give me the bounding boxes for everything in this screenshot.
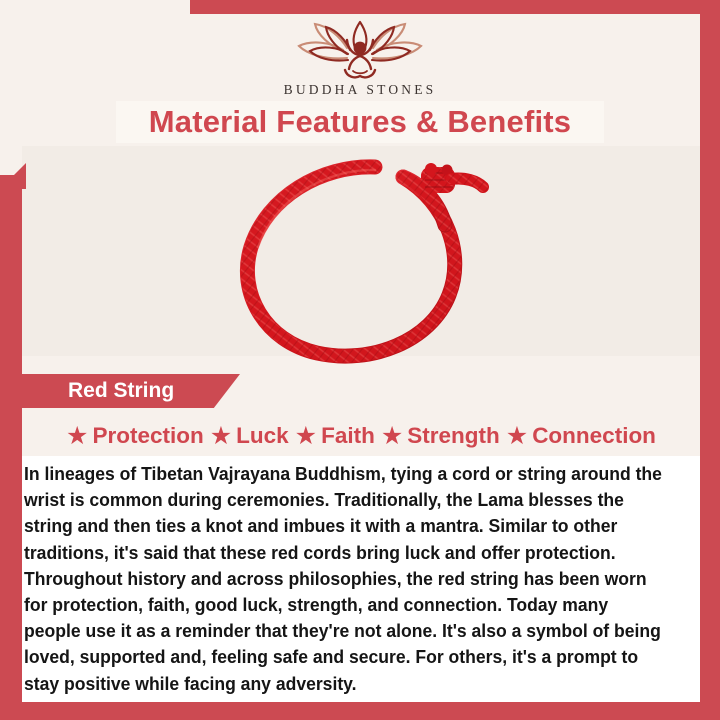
frame-bottom-bar xyxy=(0,702,720,720)
star-icon: ★ xyxy=(506,424,528,449)
frame-top-bar xyxy=(190,0,720,14)
page-title: Material Features & Benefits xyxy=(149,104,572,140)
title-banner: Material Features & Benefits xyxy=(116,101,604,143)
infographic-card: BUDDHA STONES Material Features & Benefi… xyxy=(0,0,720,720)
benefit-item: ★ Strength xyxy=(381,423,500,449)
benefit-item: ★ Luck xyxy=(210,423,289,449)
star-icon: ★ xyxy=(295,424,317,449)
benefit-item: ★ Protection xyxy=(66,423,204,449)
red-string-bracelet-image xyxy=(225,155,505,365)
star-icon: ★ xyxy=(66,424,88,449)
frame-left-bar xyxy=(0,175,22,720)
benefit-label: Strength xyxy=(407,423,500,449)
product-label-banner: Red String xyxy=(22,374,240,408)
benefit-label: Protection xyxy=(92,423,203,449)
benefit-label: Connection xyxy=(532,423,656,449)
star-icon: ★ xyxy=(210,424,232,449)
frame-right-bar xyxy=(700,0,720,720)
benefit-label: Faith xyxy=(321,423,375,449)
product-label: Red String xyxy=(22,379,174,403)
benefits-list: ★ Protection ★ Luck ★ Faith ★ Strength ★… xyxy=(22,419,700,453)
star-icon: ★ xyxy=(381,424,403,449)
benefit-item: ★ Connection xyxy=(506,423,656,449)
brand-logo: BUDDHA STONES xyxy=(0,18,720,98)
brand-name: BUDDHA STONES xyxy=(0,82,720,98)
lotus-meditation-icon xyxy=(285,18,435,80)
benefit-label: Luck xyxy=(236,423,289,449)
benefit-item: ★ Faith xyxy=(295,423,375,449)
description-text: In lineages of Tibetan Vajrayana Buddhis… xyxy=(24,461,666,697)
